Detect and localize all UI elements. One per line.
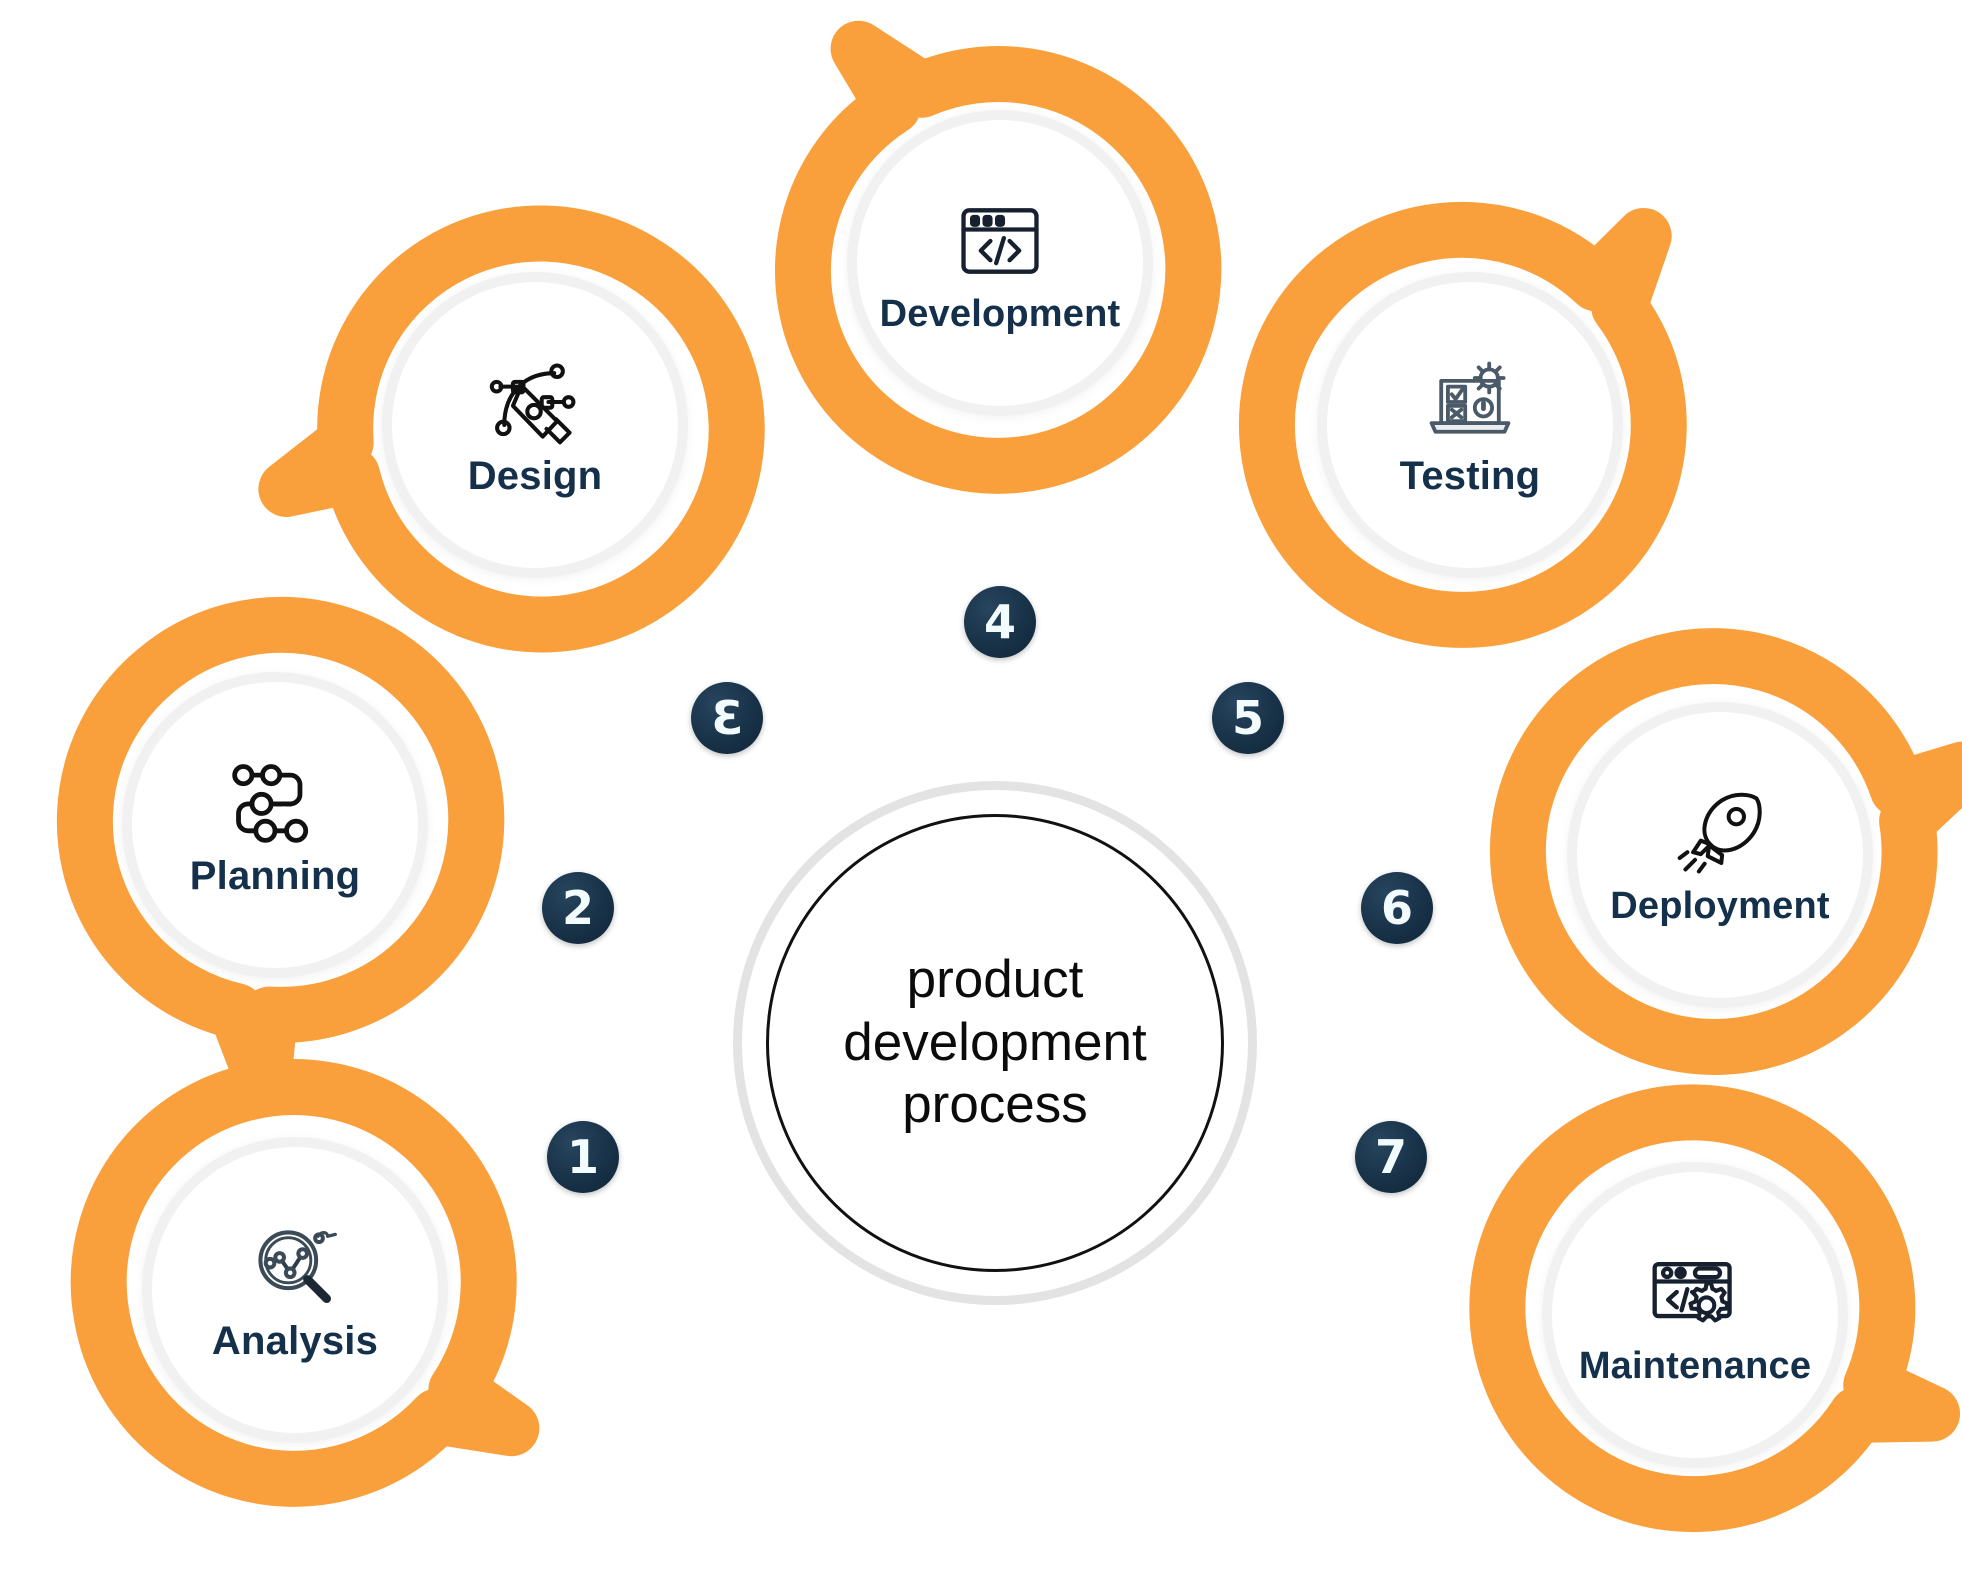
step-badge-2[interactable]: 2 bbox=[542, 872, 614, 944]
deployment-label: Deployment bbox=[1610, 887, 1829, 925]
planning-disc: Planning bbox=[122, 672, 428, 978]
browser-code-icon bbox=[946, 193, 1054, 289]
rocket-icon bbox=[1666, 785, 1774, 881]
magnifier-chart-icon bbox=[241, 1219, 349, 1315]
maintenance-label: Maintenance bbox=[1579, 1347, 1811, 1385]
step-badge-6[interactable]: 6 bbox=[1361, 872, 1433, 944]
laptop-qa-gear-icon bbox=[1416, 354, 1524, 450]
step-node-planning[interactable]: Planning bbox=[60, 610, 490, 1040]
step-badge-7[interactable]: 7 bbox=[1355, 1121, 1427, 1193]
step-badge-5-number: 5 bbox=[1232, 695, 1264, 741]
step-badge-1[interactable]: 1 bbox=[547, 1121, 619, 1193]
development-label: Development bbox=[880, 295, 1121, 333]
analysis-disc: Analysis bbox=[142, 1137, 448, 1443]
design-disc: Design bbox=[382, 272, 688, 578]
step-badge-3-number: 3 bbox=[711, 695, 743, 741]
step-badge-6-number: 6 bbox=[1381, 885, 1413, 931]
step-badge-7-number: 7 bbox=[1375, 1134, 1407, 1180]
step-badge-1-number: 1 bbox=[567, 1134, 599, 1180]
step-badge-4-number: 4 bbox=[984, 599, 1016, 645]
step-node-deployment[interactable]: Deployment bbox=[1505, 640, 1935, 1070]
development-disc: Development bbox=[847, 110, 1153, 416]
step-node-maintenance[interactable]: Maintenance bbox=[1480, 1100, 1910, 1530]
design-label: Design bbox=[468, 456, 603, 496]
planning-label: Planning bbox=[190, 856, 361, 896]
step-node-development[interactable]: Development bbox=[785, 48, 1215, 478]
process-diagram-canvas: Design Development bbox=[0, 0, 1962, 1586]
center-inner-circle: product development process bbox=[766, 814, 1224, 1272]
pen-tool-icon bbox=[481, 354, 589, 450]
step-node-design[interactable]: Design bbox=[320, 210, 750, 640]
step-badge-4[interactable]: 4 bbox=[964, 586, 1036, 658]
center-title: product development process bbox=[843, 949, 1146, 1137]
analysis-label: Analysis bbox=[212, 1321, 378, 1361]
step-node-testing[interactable]: Testing bbox=[1255, 210, 1685, 640]
step-badge-2-number: 2 bbox=[562, 885, 594, 931]
maintenance-disc: Maintenance bbox=[1542, 1162, 1848, 1468]
testing-disc: Testing bbox=[1317, 272, 1623, 578]
testing-label: Testing bbox=[1400, 456, 1541, 496]
browser-code-gear-icon bbox=[1641, 1245, 1749, 1341]
workflow-nodes-icon bbox=[221, 754, 329, 850]
step-badge-5[interactable]: 5 bbox=[1212, 682, 1284, 754]
step-badge-3[interactable]: 3 bbox=[691, 682, 763, 754]
deployment-disc: Deployment bbox=[1567, 702, 1873, 1008]
step-node-analysis[interactable]: Analysis bbox=[80, 1075, 510, 1505]
center-circle: product development process bbox=[742, 790, 1248, 1296]
